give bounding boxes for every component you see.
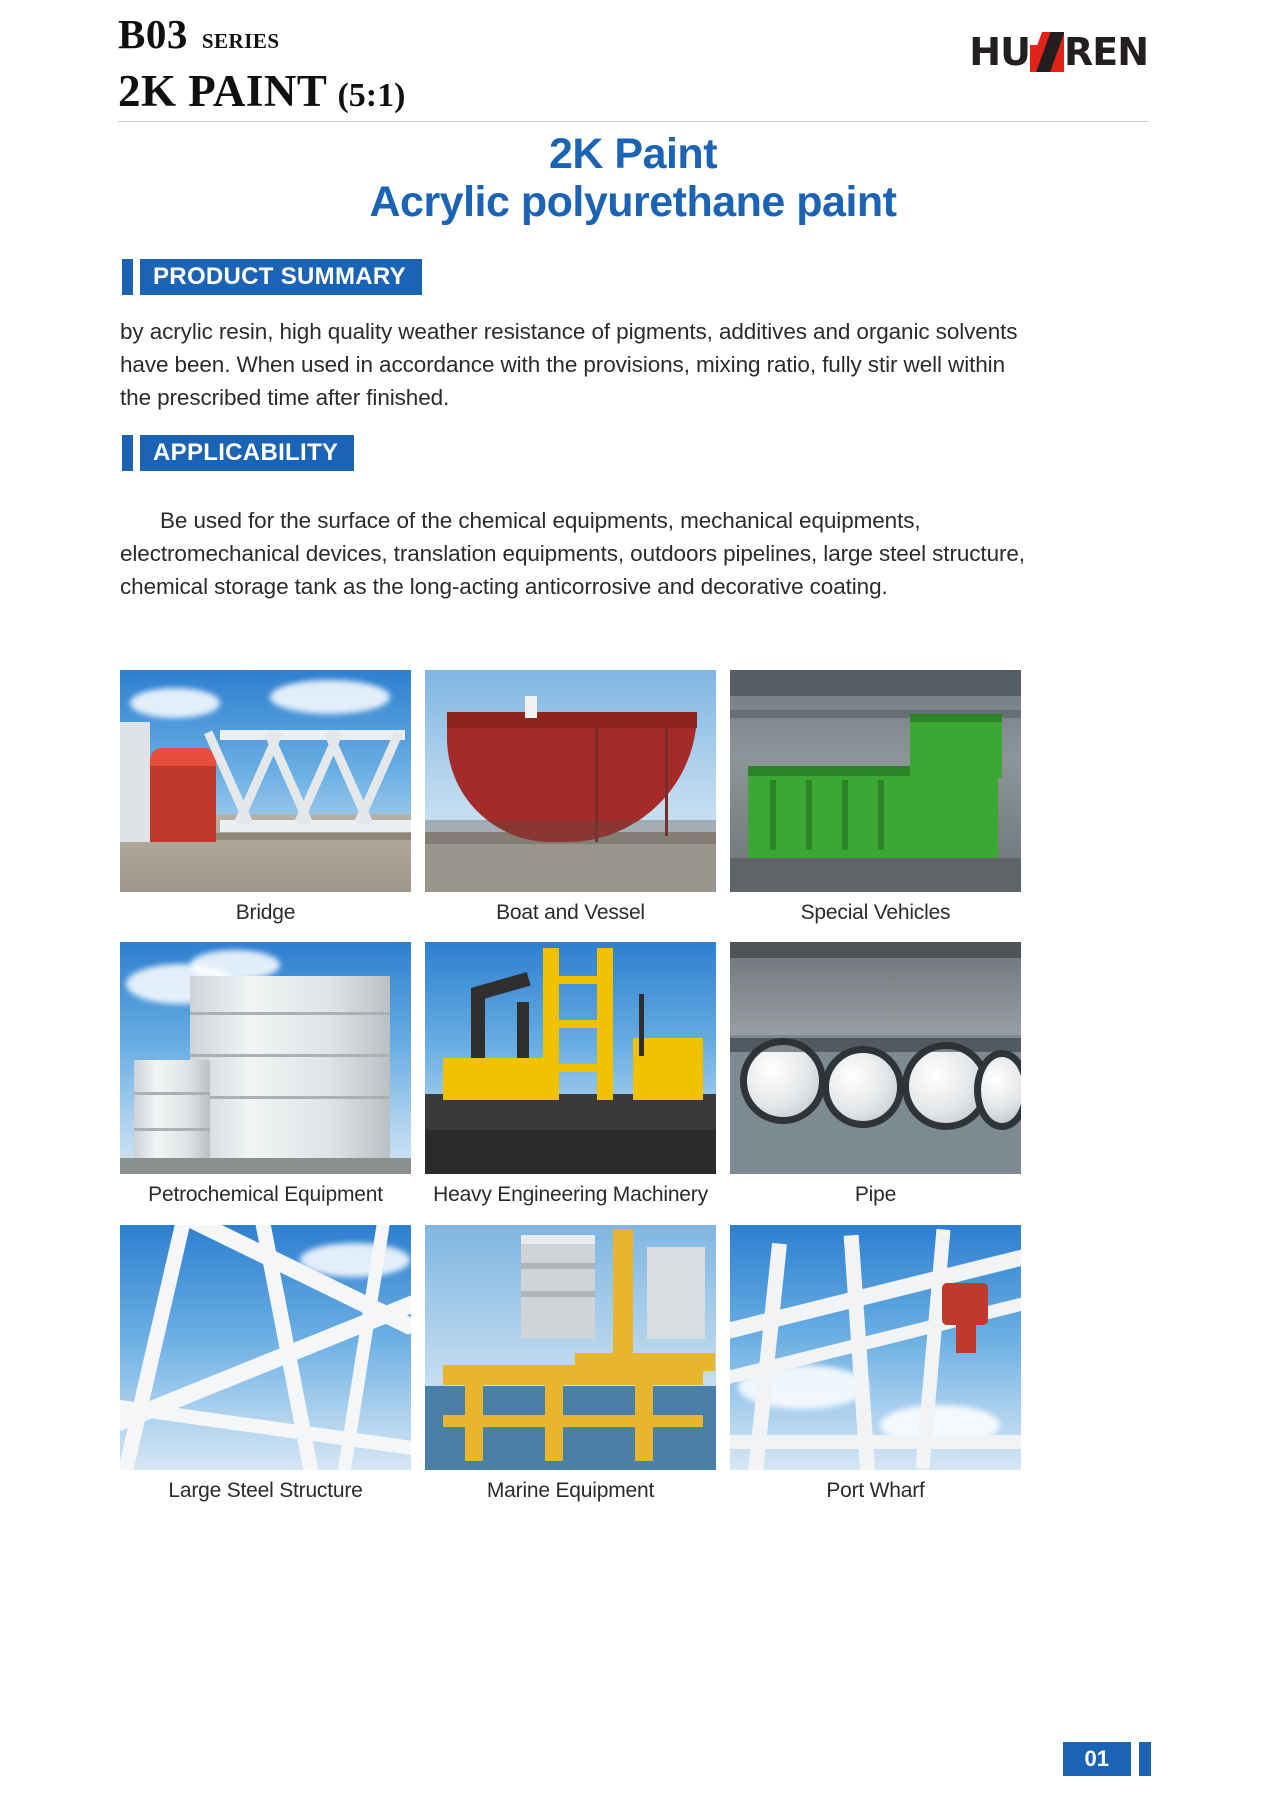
gallery-item-large-steel-structure: Large Steel Structure bbox=[120, 1225, 411, 1504]
gallery-item-heavy-engineering-machinery: Heavy Engineering Machinery bbox=[425, 942, 716, 1208]
gallery-item-boat-and-vessel: Boat and Vessel bbox=[425, 670, 716, 926]
product-summary-text: by acrylic resin, high quality weather r… bbox=[120, 316, 1032, 415]
gallery-item-marine-equipment: Marine Equipment bbox=[425, 1225, 716, 1504]
steel-pipes-photo bbox=[730, 942, 1021, 1174]
steel-truss-photo bbox=[120, 1225, 411, 1470]
storage-tanks-photo bbox=[120, 942, 411, 1174]
gallery-item-pipe: Pipe bbox=[730, 942, 1021, 1208]
drilling-rig-photo bbox=[425, 942, 716, 1174]
footer-accent-bar bbox=[1139, 1742, 1151, 1776]
badge-accent-bar bbox=[122, 259, 133, 295]
gallery-row: Large Steel Structure bbox=[120, 1225, 1020, 1504]
bridge-photo bbox=[120, 670, 411, 892]
series-word: SERIES bbox=[202, 31, 280, 52]
logo-wordmark: HU REN bbox=[969, 32, 1148, 72]
page-header: B03 SERIES 2K PAINT (5:1) HU REN bbox=[118, 14, 1148, 118]
badge-label: APPLICABILITY bbox=[140, 435, 354, 471]
page-title-line2: Acrylic polyurethane paint bbox=[118, 178, 1148, 226]
applicability-text: Be used for the surface of the chemical … bbox=[120, 505, 1025, 604]
gallery-row: Petrochemical Equipment bbox=[120, 942, 1020, 1208]
gallery-row: Bridge Boat and Vessel bbox=[120, 670, 1020, 926]
logo-text-right: REN bbox=[1064, 33, 1148, 71]
badge-label: PRODUCT SUMMARY bbox=[140, 259, 422, 295]
gallery-caption: Boat and Vessel bbox=[425, 892, 716, 926]
gallery-item-special-vehicles: Special Vehicles bbox=[730, 670, 1021, 926]
product-code: 2K PAINT bbox=[118, 69, 327, 114]
mix-ratio: (5:1) bbox=[337, 79, 405, 113]
header-product-titles: B03 SERIES 2K PAINT (5:1) bbox=[118, 14, 405, 114]
section-badge-product-summary: PRODUCT SUMMARY bbox=[122, 259, 422, 295]
gallery-caption: Port Wharf bbox=[730, 1470, 1021, 1504]
header-product-line: 2K PAINT (5:1) bbox=[118, 69, 405, 114]
gallery-caption: Bridge bbox=[120, 892, 411, 926]
gallery-item-bridge: Bridge bbox=[120, 670, 411, 926]
badge-accent-bar bbox=[122, 435, 133, 471]
green-truck-photo bbox=[730, 670, 1021, 892]
huaren-logo: HU REN bbox=[969, 30, 1148, 74]
gallery-item-port-wharf: Port Wharf bbox=[730, 1225, 1021, 1504]
page-title-line1: 2K Paint bbox=[118, 130, 1148, 178]
header-divider bbox=[118, 121, 1148, 122]
offshore-platform-photo bbox=[425, 1225, 716, 1470]
port-crane-photo bbox=[730, 1225, 1021, 1470]
logo-stylized-a-icon bbox=[1030, 32, 1064, 72]
page-number: 01 bbox=[1063, 1742, 1131, 1776]
ship-photo bbox=[425, 670, 716, 892]
gallery-caption: Marine Equipment bbox=[425, 1470, 716, 1504]
section-badge-applicability: APPLICABILITY bbox=[122, 435, 354, 471]
gallery-caption: Special Vehicles bbox=[730, 892, 1021, 926]
application-gallery: Bridge Boat and Vessel bbox=[120, 670, 1020, 1514]
page-footer: 01 bbox=[1063, 1742, 1151, 1776]
gallery-caption: Heavy Engineering Machinery bbox=[425, 1174, 716, 1208]
gallery-caption: Petrochemical Equipment bbox=[120, 1174, 411, 1208]
gallery-caption: Large Steel Structure bbox=[120, 1470, 411, 1504]
header-series-line: B03 SERIES bbox=[118, 14, 405, 55]
gallery-caption: Pipe bbox=[730, 1174, 1021, 1208]
gallery-item-petrochemical-equipment: Petrochemical Equipment bbox=[120, 942, 411, 1208]
series-code: B03 bbox=[118, 14, 188, 55]
logo-text-left: HU bbox=[969, 33, 1030, 71]
brochure-page: B03 SERIES 2K PAINT (5:1) HU REN 2K Pain… bbox=[0, 0, 1269, 1794]
page-title: 2K Paint Acrylic polyurethane paint bbox=[118, 130, 1148, 226]
